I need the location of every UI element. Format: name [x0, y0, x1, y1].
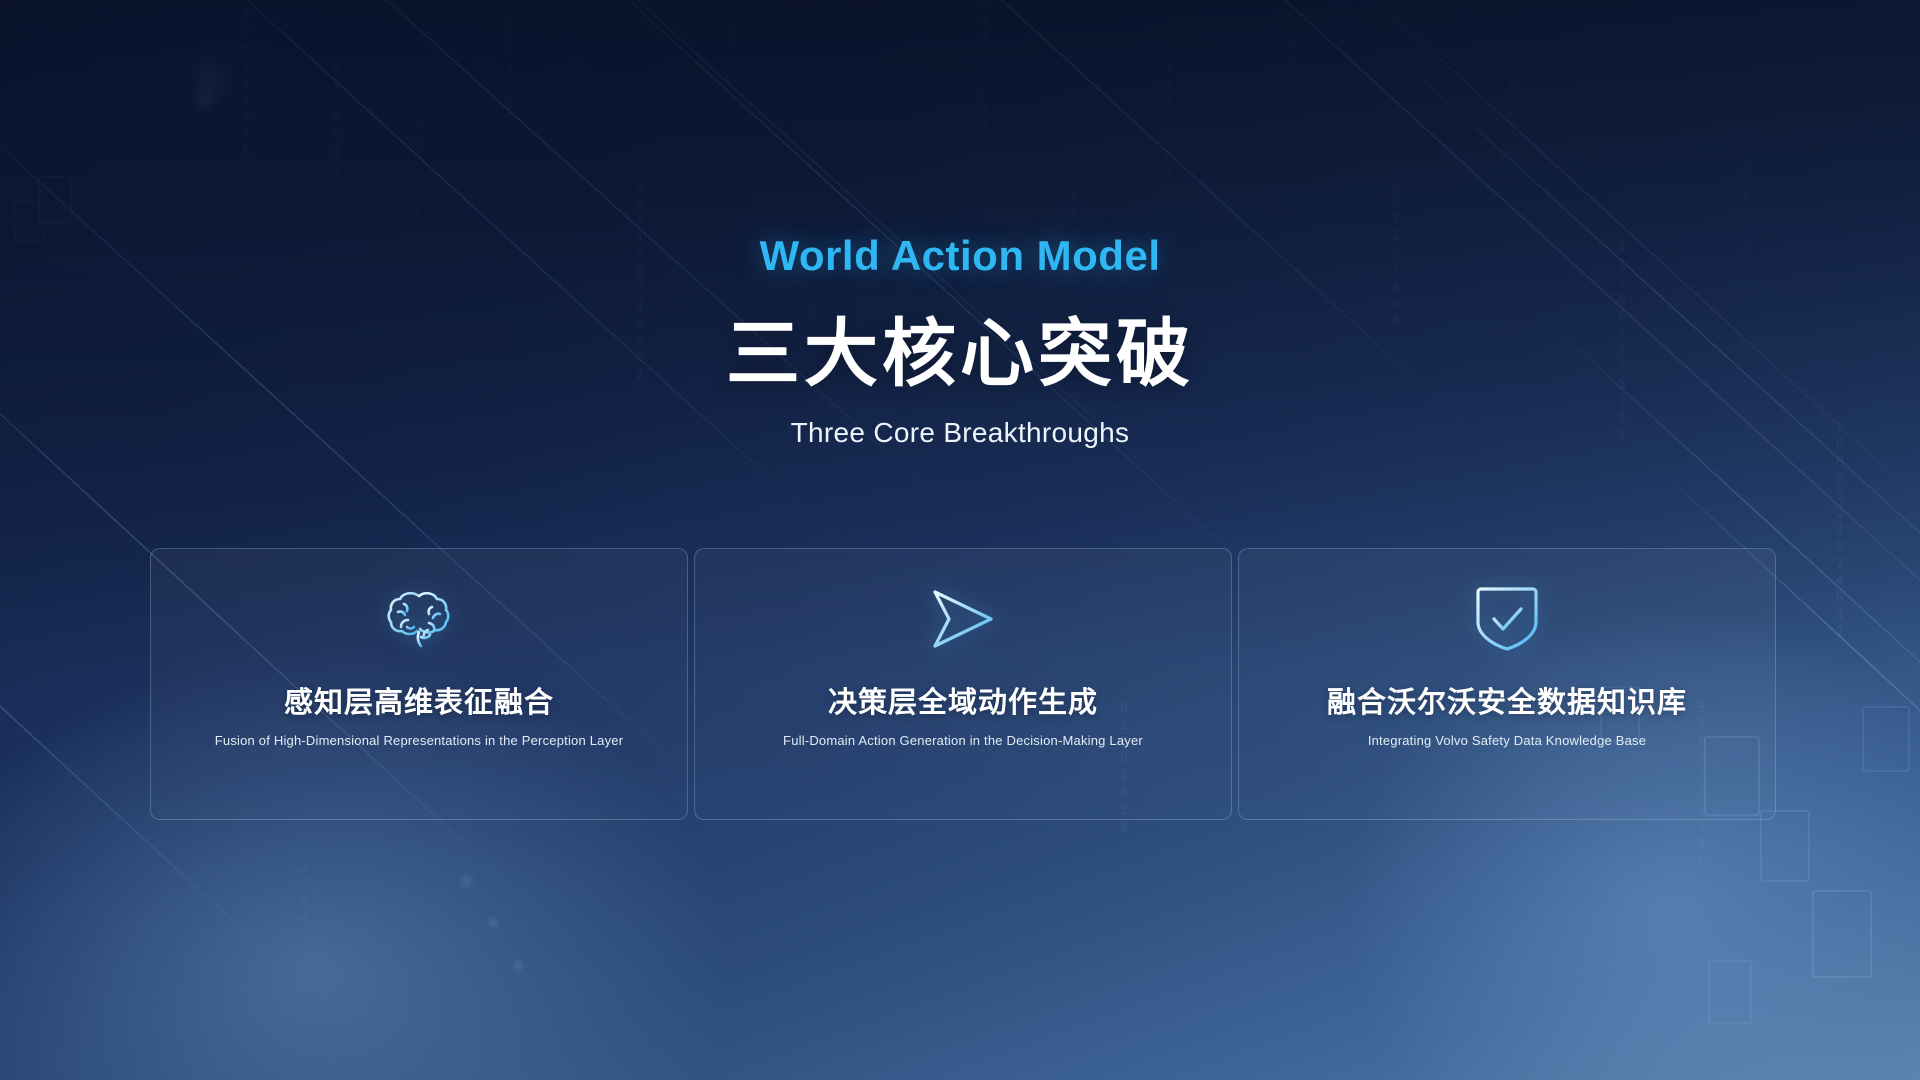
- feature-card-list: 感知层高维表征融合 Fusion of High-Dimensional Rep…: [150, 548, 1776, 820]
- feature-card-perception[interactable]: 感知层高维表征融合 Fusion of High-Dimensional Rep…: [150, 548, 688, 820]
- send-arrow-icon: [927, 587, 999, 651]
- feature-card-title: 融合沃尔沃安全数据知识库: [1327, 679, 1687, 721]
- feature-card-safety[interactable]: 融合沃尔沃安全数据知识库 Integrating Volvo Safety Da…: [1238, 548, 1776, 820]
- feature-card-subtitle: Integrating Volvo Safety Data Knowledge …: [1354, 733, 1660, 748]
- feature-card-title: 感知层高维表征融合: [284, 679, 554, 721]
- feature-card-decision[interactable]: 决策层全域动作生成 Full-Domain Action Generation …: [694, 548, 1232, 820]
- brain-icon: [384, 587, 454, 651]
- feature-card-subtitle: Fusion of High-Dimensional Representatio…: [201, 733, 637, 748]
- shield-check-icon: [1476, 587, 1538, 651]
- slide-canvas: 7 3 9 0 2 5 1 8 4 6 0 1 1 0 5 3 9 2 4 8 …: [0, 0, 1920, 1080]
- page-eyebrow: World Action Model: [0, 232, 1920, 280]
- page-title: 三大核心突破: [0, 294, 1920, 401]
- feature-card-subtitle: Full-Domain Action Generation in the Dec…: [769, 733, 1157, 748]
- slide-header: World Action Model 三大核心突破 Three Core Bre…: [0, 0, 1920, 449]
- page-subtitle: Three Core Breakthroughs: [0, 417, 1920, 449]
- feature-card-title: 决策层全域动作生成: [828, 679, 1098, 721]
